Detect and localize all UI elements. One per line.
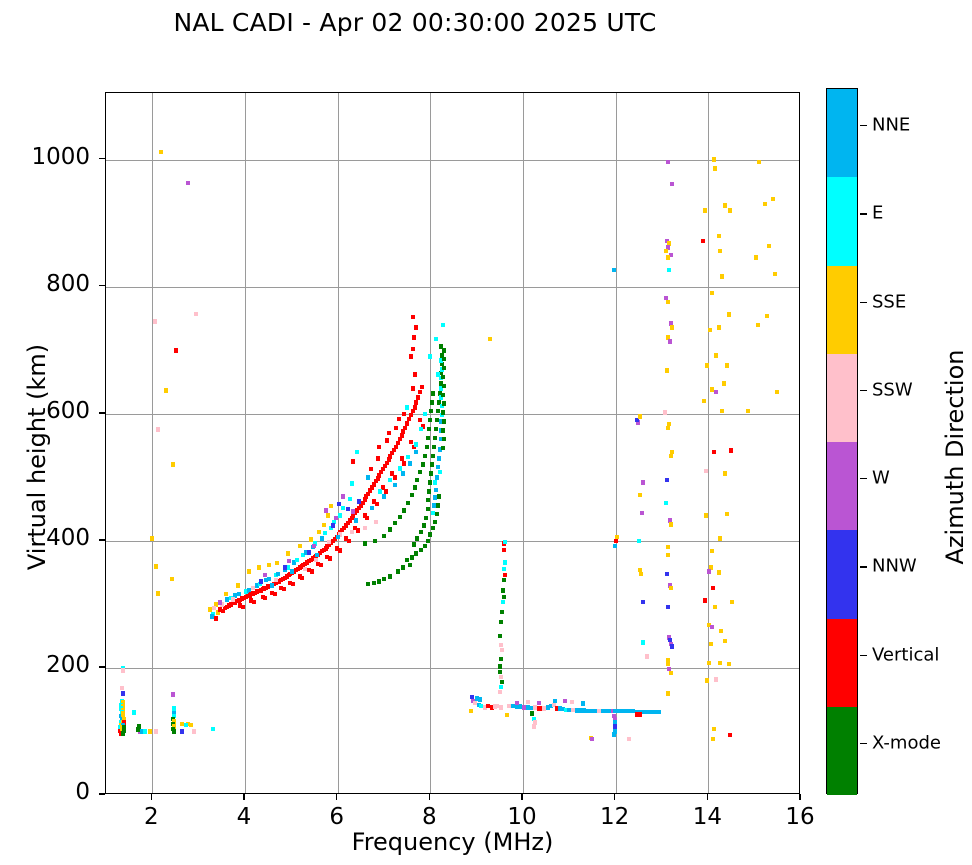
scatter-point xyxy=(431,526,435,530)
scatter-point xyxy=(500,610,504,614)
scatter-point xyxy=(263,596,267,600)
scatter-point xyxy=(283,565,287,569)
scatter-point xyxy=(317,530,321,534)
scatter-point xyxy=(670,644,674,648)
scatter-point xyxy=(382,494,386,498)
scatter-point xyxy=(418,418,422,422)
scatter-point xyxy=(498,690,502,694)
scatter-point xyxy=(375,502,379,506)
scatter-point xyxy=(400,433,404,437)
scatter-point xyxy=(665,368,669,372)
scatter-point xyxy=(665,478,669,482)
scatter-point xyxy=(210,614,214,618)
scatter-point xyxy=(346,507,350,511)
scatter-point xyxy=(488,337,492,341)
scatter-point xyxy=(259,579,263,583)
scatter-point xyxy=(441,393,445,397)
scatter-point xyxy=(435,512,439,516)
scatter-point xyxy=(414,450,418,454)
scatter-point xyxy=(613,724,617,728)
scatter-point xyxy=(669,253,673,257)
scatter-point xyxy=(363,541,367,545)
y-axis-tick xyxy=(99,666,105,667)
scatter-point xyxy=(437,456,441,460)
colorbar-segment-w[interactable] xyxy=(827,442,857,530)
scatter-point xyxy=(405,421,409,425)
scatter-point xyxy=(354,518,358,522)
scatter-point xyxy=(441,446,445,450)
scatter-point xyxy=(530,711,534,715)
scatter-point xyxy=(403,426,407,430)
scatter-point xyxy=(416,395,420,399)
x-axis-tick xyxy=(336,794,337,800)
scatter-point xyxy=(356,528,360,532)
scatter-point xyxy=(767,244,771,248)
scatter-point xyxy=(720,274,724,278)
scatter-point xyxy=(666,553,670,557)
scatter-point xyxy=(424,516,428,520)
scatter-point xyxy=(426,507,430,511)
scatter-point xyxy=(398,515,402,519)
scatter-point xyxy=(406,501,410,505)
scatter-point xyxy=(428,354,432,358)
scatter-point xyxy=(396,441,400,445)
scatter-point xyxy=(402,461,406,465)
scatter-point xyxy=(372,581,376,585)
scatter-point xyxy=(407,417,411,421)
scatter-point xyxy=(666,691,670,695)
scatter-point xyxy=(401,471,405,475)
colorbar-tick xyxy=(860,655,867,656)
x-axis-tick xyxy=(614,794,615,800)
scatter-point xyxy=(563,699,567,703)
scatter-point xyxy=(725,512,729,516)
scatter-point xyxy=(515,701,519,705)
scatter-point xyxy=(722,381,726,385)
scatter-point xyxy=(307,550,311,554)
scatter-point xyxy=(373,539,377,543)
scatter-point xyxy=(423,412,427,416)
scatter-point xyxy=(172,729,176,733)
scatter-point xyxy=(384,489,388,493)
scatter-point xyxy=(641,600,645,604)
scatter-point xyxy=(763,202,767,206)
scatter-point xyxy=(398,466,402,470)
scatter-point xyxy=(730,600,734,604)
scatter-point xyxy=(441,323,445,327)
colorbar-segment-x-mode[interactable] xyxy=(827,707,857,795)
scatter-point xyxy=(666,426,670,430)
scatter-point xyxy=(363,526,367,530)
scatter-point xyxy=(415,478,419,482)
scatter-point xyxy=(224,592,228,596)
scatter-point xyxy=(419,530,423,534)
scatter-point xyxy=(164,388,168,392)
scatter-point xyxy=(408,461,412,465)
scatter-point xyxy=(718,249,722,253)
scatter-point xyxy=(186,181,190,185)
colorbar-tick xyxy=(860,213,867,214)
scatter-point xyxy=(423,454,427,458)
scatter-point xyxy=(431,454,435,458)
scatter-point xyxy=(498,634,502,638)
scatter-point xyxy=(526,700,530,704)
x-axis-tick xyxy=(707,794,708,800)
scatter-point xyxy=(590,737,594,741)
scatter-point xyxy=(241,605,245,609)
scatter-point xyxy=(291,582,295,586)
scatter-point xyxy=(357,499,361,503)
scatter-point xyxy=(324,508,328,512)
scatter-point xyxy=(257,565,261,569)
scatter-point xyxy=(427,489,431,493)
scatter-point xyxy=(499,675,503,679)
scatter-point xyxy=(267,577,271,581)
scatter-point xyxy=(348,497,352,501)
plot-area xyxy=(105,92,800,794)
scatter-point xyxy=(415,536,419,540)
scatter-point xyxy=(666,662,670,666)
scatter-point xyxy=(746,409,750,413)
scatter-point xyxy=(410,493,414,497)
colorbar-label-x-mode: X-mode xyxy=(872,732,941,753)
scatter-point xyxy=(705,678,709,682)
scatter-point xyxy=(503,573,507,577)
scatter-point xyxy=(431,391,435,395)
scatter-point xyxy=(369,467,373,471)
colorbar-segment-ssw[interactable] xyxy=(827,354,857,442)
scatter-point xyxy=(408,563,412,567)
scatter-point xyxy=(614,539,618,543)
scatter-point xyxy=(159,150,163,154)
scatter-point xyxy=(505,713,509,717)
scatter-point xyxy=(704,513,708,517)
scatter-point xyxy=(669,522,673,526)
scatter-point xyxy=(430,462,434,466)
x-axis-tick xyxy=(151,794,152,800)
scatter-point xyxy=(382,534,386,538)
scatter-point xyxy=(413,405,417,409)
scatter-point xyxy=(667,268,671,272)
scatter-point xyxy=(425,445,429,449)
scatter-point xyxy=(132,710,136,714)
x-axis-tick xyxy=(799,794,800,800)
scatter-point xyxy=(638,493,642,497)
colorbar-segment-nne[interactable] xyxy=(827,89,857,177)
scatter-point xyxy=(666,605,670,609)
colorbar-label-e: E xyxy=(872,203,883,224)
scatter-point xyxy=(275,561,279,565)
scatter-point xyxy=(773,272,777,276)
scatter-point xyxy=(385,438,389,442)
colorbar-tick xyxy=(860,302,867,303)
x-axis-tick-label: 4 xyxy=(214,804,274,830)
scatter-point xyxy=(387,431,391,435)
scatter-point xyxy=(409,440,413,444)
y-axis-tick xyxy=(99,539,105,540)
scatter-point xyxy=(338,513,342,517)
scatter-point xyxy=(433,495,437,499)
scatter-point xyxy=(713,605,717,609)
scatter-point xyxy=(500,680,504,684)
scatter-point xyxy=(426,498,430,502)
scatter-point xyxy=(263,573,267,577)
scatter-point xyxy=(428,418,432,422)
scatter-point xyxy=(638,414,642,418)
scatter-point xyxy=(707,661,711,665)
scatter-point xyxy=(703,598,707,602)
scatter-point xyxy=(398,437,402,441)
scatter-point xyxy=(153,319,157,323)
scatter-point xyxy=(121,668,125,672)
scatter-point xyxy=(501,600,505,604)
scatter-point xyxy=(347,539,351,543)
scatter-point xyxy=(148,729,152,733)
scatter-point xyxy=(703,208,707,212)
scatter-point xyxy=(400,456,404,460)
scatter-point xyxy=(663,410,667,414)
scatter-point xyxy=(478,697,482,701)
colorbar-tick xyxy=(860,566,867,567)
scatter-point xyxy=(120,686,124,690)
scatter-point xyxy=(419,548,423,552)
scatter-point xyxy=(613,544,617,548)
scatter-point xyxy=(252,600,256,604)
scatter-point xyxy=(664,249,668,253)
scatter-point xyxy=(441,428,445,432)
scatter-point xyxy=(365,516,369,520)
scatter-point xyxy=(436,409,440,413)
scatter-point xyxy=(290,569,294,573)
scatter-point xyxy=(411,386,415,390)
scatter-point xyxy=(418,390,422,394)
scatter-point xyxy=(428,532,432,536)
scatter-point xyxy=(612,714,616,718)
scatter-point xyxy=(442,401,446,405)
y-axis-tick-label: 1000 xyxy=(10,144,90,170)
scatter-point xyxy=(374,520,378,524)
scatter-point xyxy=(728,733,732,737)
y-axis-tick xyxy=(99,158,105,159)
scatter-point xyxy=(635,418,639,422)
scatter-point xyxy=(405,558,409,562)
scatter-point xyxy=(701,239,705,243)
scatter-point xyxy=(338,548,342,552)
colorbar-tick xyxy=(860,478,867,479)
scatter-point xyxy=(393,475,397,479)
scatter-point xyxy=(718,536,722,540)
scatter-point xyxy=(236,583,240,587)
scatter-point xyxy=(500,648,504,652)
scatter-point xyxy=(402,412,406,416)
scatter-point xyxy=(665,572,669,576)
scatter-point xyxy=(406,455,410,459)
ionogram-figure: NAL CADI - Apr 02 00:30:00 2025 UTC 2468… xyxy=(0,0,972,865)
scatter-point xyxy=(713,166,717,170)
scatter-point xyxy=(273,592,277,596)
scatter-point xyxy=(442,419,446,423)
scatter-point xyxy=(370,506,374,510)
colorbar-label-ssw: SSW xyxy=(872,379,913,400)
scatter-point xyxy=(757,160,761,164)
colorbar-label-vertical: Vertical xyxy=(872,644,939,665)
scatter-point xyxy=(727,662,731,666)
scatter-point xyxy=(666,545,670,549)
scatter-point xyxy=(378,489,382,493)
scatter-point xyxy=(502,595,506,599)
x-axis-title: Frequency (MHz) xyxy=(105,828,800,856)
scatter-point xyxy=(184,723,188,727)
scatter-point xyxy=(553,699,557,703)
scatter-point xyxy=(670,325,674,329)
scatter-point xyxy=(437,494,441,498)
colorbar-segment-nnw[interactable] xyxy=(827,530,857,618)
scatter-point xyxy=(314,558,318,562)
scatter-point xyxy=(156,427,160,431)
scatter-point xyxy=(570,700,574,704)
colorbar-segment-vertical[interactable] xyxy=(827,619,857,707)
scatter-point xyxy=(355,450,359,454)
scatter-point xyxy=(442,348,446,352)
scatter-point xyxy=(414,551,418,555)
scatter-point xyxy=(341,494,345,498)
scatter-point xyxy=(388,574,392,578)
scatter-point xyxy=(310,569,314,573)
colorbar-label-sse: SSE xyxy=(872,291,906,312)
scatter-point xyxy=(413,485,417,489)
scatter-point xyxy=(402,508,406,512)
scatter-point xyxy=(414,325,418,329)
scatter-point xyxy=(422,523,426,527)
scatter-point xyxy=(669,454,673,458)
scatter-point xyxy=(709,642,713,646)
scatter-point xyxy=(211,727,215,731)
scatter-point xyxy=(137,724,141,728)
scatter-point xyxy=(702,399,706,403)
scatter-point xyxy=(412,542,416,546)
scatter-point xyxy=(434,337,438,341)
scatter-point xyxy=(388,527,392,531)
scatter-point xyxy=(336,535,340,539)
scatter-point xyxy=(276,572,280,576)
scatter-point xyxy=(775,390,779,394)
scatter-point xyxy=(334,516,338,520)
scatter-point xyxy=(328,556,332,560)
scatter-point xyxy=(442,357,446,361)
colorbar-tick xyxy=(860,743,867,744)
y-axis-tick xyxy=(99,412,105,413)
scatter-point xyxy=(442,437,446,441)
scatter-point xyxy=(433,436,437,440)
scatter-point xyxy=(121,691,125,695)
scatter-point xyxy=(171,462,175,466)
scatter-point xyxy=(286,551,290,555)
scatter-point xyxy=(499,657,503,661)
scatter-point xyxy=(441,375,445,379)
scatter-point xyxy=(717,325,721,329)
scatter-point xyxy=(121,731,125,735)
scatter-point xyxy=(498,670,502,674)
scatter-point xyxy=(664,501,668,505)
scatter-point xyxy=(436,465,440,469)
scatter-point xyxy=(170,577,174,581)
scatter-points-layer xyxy=(106,93,799,793)
x-axis-tick-label: 12 xyxy=(585,804,645,830)
scatter-point xyxy=(156,591,160,595)
scatter-point xyxy=(350,530,354,534)
scatter-point xyxy=(470,695,474,699)
scatter-point xyxy=(394,445,398,449)
scatter-point xyxy=(337,502,341,506)
colorbar-label-nne: NNE xyxy=(872,115,910,136)
x-axis-tick-label: 14 xyxy=(677,804,737,830)
scatter-point xyxy=(435,475,439,479)
colorbar[interactable] xyxy=(826,88,858,794)
scatter-point xyxy=(420,385,424,389)
scatter-point xyxy=(377,579,381,583)
scatter-point xyxy=(754,255,758,259)
scatter-point xyxy=(429,409,433,413)
scatter-point xyxy=(704,469,708,473)
scatter-point xyxy=(717,234,721,238)
scatter-point xyxy=(442,366,446,370)
scatter-point xyxy=(327,540,331,544)
scatter-point xyxy=(411,409,415,413)
scatter-point xyxy=(503,560,507,564)
scatter-point xyxy=(410,555,414,559)
scatter-point xyxy=(723,471,727,475)
scatter-point xyxy=(714,390,718,394)
scatter-point xyxy=(581,701,585,705)
scatter-point xyxy=(413,372,417,376)
scatter-point xyxy=(615,535,619,539)
colorbar-tick xyxy=(860,125,867,126)
scatter-point xyxy=(430,400,434,404)
scatter-point xyxy=(295,558,299,562)
scatter-point xyxy=(756,323,760,327)
scatter-point xyxy=(486,704,490,708)
scatter-point xyxy=(411,315,415,319)
y-axis-tick-label: 0 xyxy=(10,779,90,805)
scatter-point xyxy=(414,442,418,446)
x-axis-tick-label: 10 xyxy=(492,804,552,830)
scatter-point xyxy=(426,436,430,440)
scatter-point xyxy=(433,520,437,524)
scatter-point xyxy=(438,470,442,474)
scatter-point xyxy=(502,578,506,582)
scatter-point xyxy=(711,586,715,590)
scatter-point xyxy=(322,523,326,527)
colorbar-segment-sse[interactable] xyxy=(827,266,857,354)
x-axis-tick-label: 2 xyxy=(121,804,181,830)
scatter-point xyxy=(434,427,438,431)
colorbar-segment-e[interactable] xyxy=(827,177,857,265)
scatter-point xyxy=(723,203,727,207)
scatter-point xyxy=(251,586,255,590)
scatter-point xyxy=(499,643,503,647)
scatter-point xyxy=(727,312,731,316)
scatter-point xyxy=(267,563,271,567)
scatter-point xyxy=(315,553,319,557)
scatter-point xyxy=(432,503,436,507)
scatter-point xyxy=(154,564,158,568)
scatter-point xyxy=(329,504,333,508)
scatter-point xyxy=(718,661,722,665)
scatter-point xyxy=(725,363,729,367)
scatter-point xyxy=(412,335,416,339)
scatter-point xyxy=(393,521,397,525)
x-axis-tick xyxy=(521,794,522,800)
